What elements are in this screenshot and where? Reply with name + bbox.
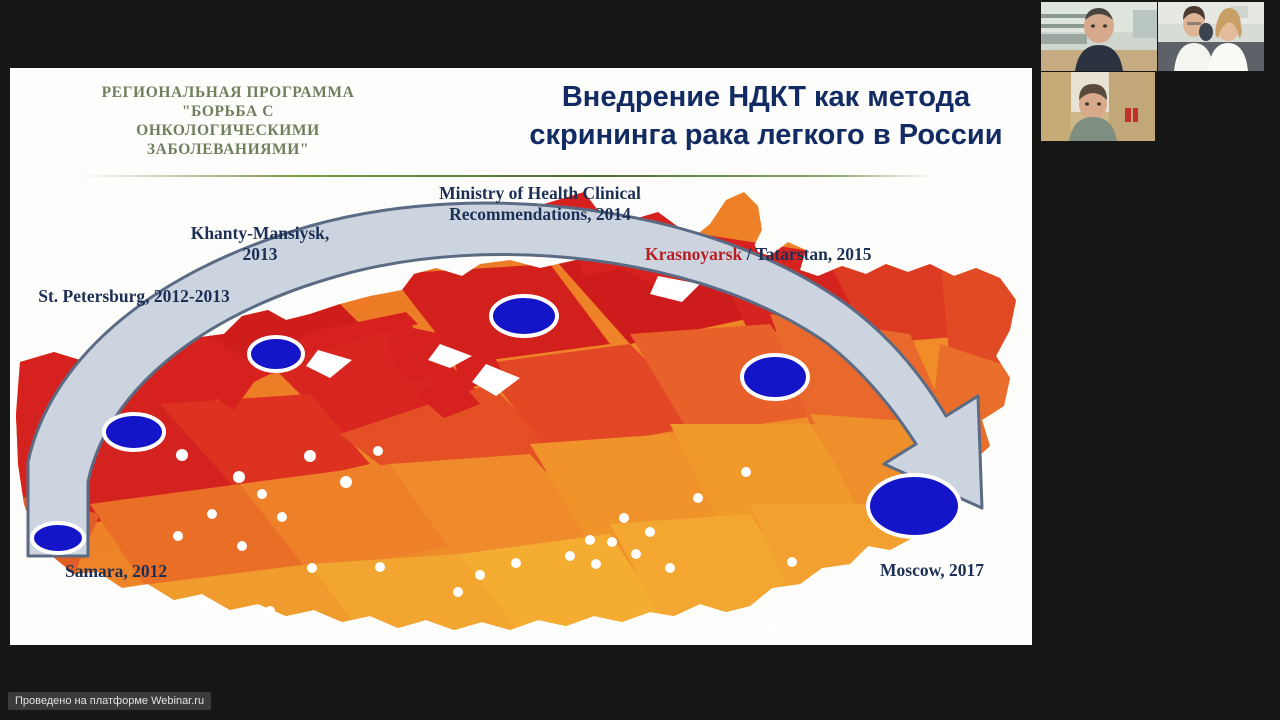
platform-watermark-text: Проведено на платформе Webinar.ru	[15, 695, 204, 707]
label-samara: Samara, 2012	[65, 561, 167, 582]
presentation-slide[interactable]: РЕГИОНАЛЬНАЯ ПРОГРАММА "БОРЬБА С ОНКОЛОГ…	[10, 68, 1032, 645]
webcam-tile-participant-2[interactable]	[1158, 2, 1264, 71]
label-ministry-recommendations: Ministry of Health Clinical Recommendati…	[410, 183, 670, 225]
label-krasnoyarsk-highlight: Krasnoyarsk	[645, 244, 742, 264]
label-khanty-mansiysk: Khanty-Mansiysk, 2013	[170, 223, 350, 265]
label-moscow: Moscow, 2017	[880, 560, 984, 581]
webcam-tile-participant-1[interactable]	[1041, 2, 1157, 71]
screen: РЕГИОНАЛЬНАЯ ПРОГРАММА "БОРЬБА С ОНКОЛОГ…	[0, 0, 1280, 720]
participant-2-video	[1158, 2, 1264, 71]
slide-title-line-1: Внедрение НДКТ как метода	[510, 78, 1022, 116]
marker-moscow	[868, 475, 960, 537]
marker-ministry-2014	[491, 296, 557, 336]
label-krasnoyarsk-tatarstan: Krasnoyarsk / Tatarstan, 2015	[645, 244, 872, 265]
label-st-petersburg: St. Petersburg, 2012-2013	[14, 286, 254, 307]
slide-title: Внедрение НДКТ как метода скрининга рака…	[510, 78, 1022, 154]
program-title-line-4: ЗАБОЛЕВАНИЯМИ"	[58, 140, 398, 159]
marker-samara	[104, 414, 164, 450]
participant-3-video	[1041, 72, 1155, 141]
slide-title-line-2: скрининга рака легкого в России	[510, 116, 1022, 154]
program-title: РЕГИОНАЛЬНАЯ ПРОГРАММА "БОРЬБА С ОНКОЛОГ…	[58, 83, 398, 159]
label-khanty-line-2: 2013	[170, 244, 350, 265]
program-title-line-3: ОНКОЛОГИЧЕСКИМИ	[58, 121, 398, 140]
marker-khanty-mansiysk	[249, 337, 303, 371]
marker-st-petersburg	[32, 523, 84, 553]
program-title-line-1: РЕГИОНАЛЬНАЯ ПРОГРАММА	[58, 83, 398, 102]
label-tatarstan-rest: / Tatarstan, 2015	[742, 244, 871, 264]
webcam-tile-participant-3[interactable]	[1041, 72, 1155, 141]
marker-krasnoyarsk	[742, 355, 808, 399]
platform-watermark: Проведено на платформе Webinar.ru	[8, 692, 211, 710]
label-ministry-line-1: Ministry of Health Clinical	[410, 183, 670, 204]
program-title-line-2: "БОРЬБА С	[58, 102, 398, 121]
participant-1-video	[1041, 2, 1157, 71]
label-khanty-line-1: Khanty-Mansiysk,	[170, 223, 350, 244]
label-ministry-line-2: Recommendations, 2014	[410, 204, 670, 225]
